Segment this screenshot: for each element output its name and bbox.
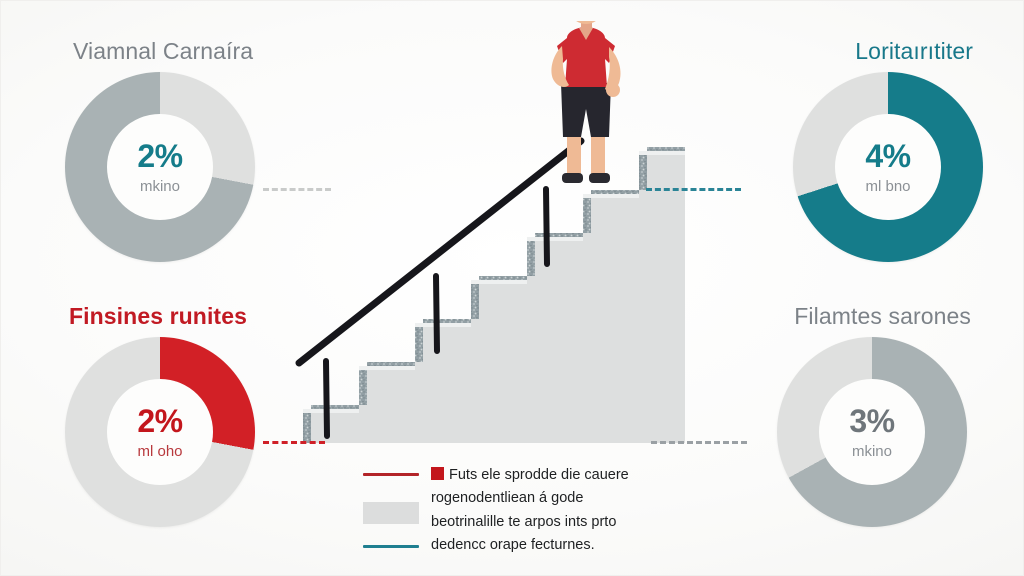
right-hand (606, 83, 620, 97)
donut-center-top-right: 4% ml bno (835, 114, 941, 220)
donut-percent-bottom-left: 2% (137, 405, 182, 437)
stat-block-top-left: Viamnal Carnaíra 2% mkino (39, 39, 339, 262)
stat-title-bottom-left: Finsines runites (39, 304, 339, 329)
donut-sublabel-bottom-left: ml oho (137, 444, 182, 459)
donut-center-bottom-right: 3% mkino (819, 379, 925, 485)
donut-percent-top-right: 4% (865, 140, 910, 172)
legend-line-4: dedencc orape fecturnes. (431, 534, 663, 557)
shoes (562, 173, 610, 183)
donut-percent-top-left: 2% (137, 140, 182, 172)
legend-line-3: beotrinalille te arpos ints prto (431, 511, 663, 534)
legend-line-1: Futs ele sprodde die cauere (431, 464, 663, 487)
legend-text: Futs ele sprodde die cauere rogenodentli… (431, 464, 663, 558)
donut-chart-top-left[interactable]: 2% mkino (65, 72, 255, 262)
stat-block-bottom-left: Finsines runites 2% ml oho (39, 304, 339, 527)
donut-center-bottom-left: 2% ml oho (107, 379, 213, 485)
legend: Futs ele sprodde die cauere rogenodentli… (363, 464, 663, 558)
stat-title-top-left: Viamnal Carnaíra (39, 39, 339, 64)
gray-box-marker (363, 502, 419, 524)
donut-chart-bottom-right[interactable]: 3% mkino (777, 337, 967, 527)
legs (567, 131, 605, 179)
donut-sublabel-top-right: ml bno (865, 179, 910, 194)
shorts (561, 83, 611, 137)
stat-title-bottom-right: Filamtes sarones (691, 304, 991, 329)
infographic-canvas: Viamnal Carnaíra 2% mkino Loritaırıtiter… (0, 0, 1024, 576)
legend-line-2: rogenodentliean á gode (431, 487, 663, 510)
red-line-marker (363, 473, 419, 476)
stat-block-bottom-right: Filamtes sarones 3% mkino (691, 304, 991, 527)
donut-percent-bottom-right: 3% (849, 405, 894, 437)
legend-lead-swatch-icon (431, 467, 444, 480)
stat-block-top-right: Loritaırıtiter 4% ml bno (701, 39, 1001, 262)
head (566, 21, 606, 24)
donut-center-top-left: 2% mkino (107, 114, 213, 220)
legend-line-1-text: Futs ele sprodde die cauere (449, 467, 629, 483)
donut-chart-bottom-left[interactable]: 2% ml oho (65, 337, 255, 527)
teal-line-marker (363, 545, 419, 548)
staircase-illustration (281, 21, 711, 446)
donut-chart-top-right[interactable]: 4% ml bno (793, 72, 983, 262)
stat-title-top-right: Loritaırıtiter (701, 39, 1001, 64)
donut-sublabel-top-left: mkino (140, 179, 180, 194)
donut-sublabel-bottom-right: mkino (852, 444, 892, 459)
